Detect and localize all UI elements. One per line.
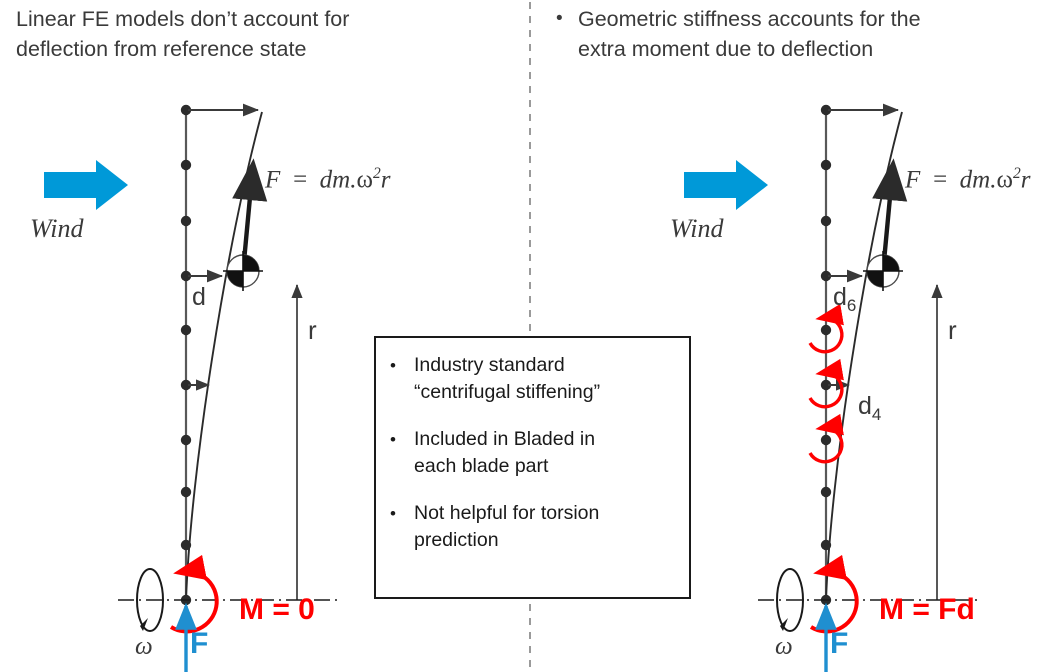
wind-arrow bbox=[684, 160, 768, 210]
blade-node bbox=[821, 540, 831, 550]
bullet-marker: • bbox=[0, 4, 16, 34]
info-box-item-text: Included in Bladed in each blade part bbox=[414, 426, 595, 480]
left-omega-label: ω bbox=[135, 633, 153, 661]
left-wind-label: Wind bbox=[30, 214, 83, 244]
blade-node bbox=[181, 216, 191, 226]
right-deflection-label-d4: d4 bbox=[858, 392, 881, 425]
blade-node bbox=[181, 540, 191, 550]
right-radius-label: r bbox=[948, 315, 957, 346]
right-moment-label: M = Fd bbox=[879, 593, 975, 627]
right-wind-label: Wind bbox=[670, 214, 723, 244]
bullet-marker: • bbox=[556, 4, 578, 34]
info-box-item: • Included in Bladed in each blade part bbox=[390, 426, 677, 480]
left-deflection-label: d bbox=[192, 283, 206, 312]
info-box-item: • Not helpful for torsion prediction bbox=[390, 500, 677, 554]
right-bullet-text: Geometric stiffness accounts for the ext… bbox=[578, 4, 921, 64]
blade-node bbox=[181, 435, 191, 445]
left-moment-label: M = 0 bbox=[239, 593, 315, 627]
bullet-marker: • bbox=[390, 426, 414, 453]
slide-canvas: • Linear FE models don’t account for def… bbox=[0, 0, 1062, 672]
left-bullet: • Linear FE models don’t account for def… bbox=[0, 4, 464, 64]
blade-node bbox=[821, 216, 831, 226]
info-box-item-text: Not helpful for torsion prediction bbox=[414, 500, 599, 554]
right-omega-label: ω bbox=[775, 633, 793, 661]
blade-node bbox=[821, 435, 831, 445]
blade-node bbox=[181, 160, 191, 170]
blade-node bbox=[821, 487, 831, 497]
blade-node bbox=[181, 325, 191, 335]
root-moment-arrow bbox=[811, 571, 857, 631]
left-radius-label: r bbox=[308, 315, 317, 346]
info-box-item-text: Industry standard “centrifugal stiffenin… bbox=[414, 352, 600, 406]
left-force-label: F bbox=[190, 627, 208, 661]
bullet-marker: • bbox=[390, 500, 414, 527]
blade-node bbox=[821, 325, 831, 335]
info-box: • Industry standard “centrifugal stiffen… bbox=[374, 336, 691, 599]
root-moment-arrow bbox=[171, 571, 217, 631]
info-box-item: • Industry standard “centrifugal stiffen… bbox=[390, 352, 677, 406]
blade-node bbox=[821, 160, 831, 170]
bullet-marker: • bbox=[390, 352, 414, 379]
right-force-label: F bbox=[830, 627, 848, 661]
wind-arrow bbox=[44, 160, 128, 210]
blade-node bbox=[181, 487, 191, 497]
left-force-formula: F = dm.ω2r bbox=[265, 165, 390, 194]
right-force-formula: F = dm.ω2r bbox=[905, 165, 1030, 194]
left-bullet-text: Linear FE models don’t account for defle… bbox=[16, 4, 349, 64]
right-deflection-label-d6: d6 bbox=[833, 283, 856, 316]
right-bullet: • Geometric stiffness accounts for the e… bbox=[556, 4, 1056, 64]
